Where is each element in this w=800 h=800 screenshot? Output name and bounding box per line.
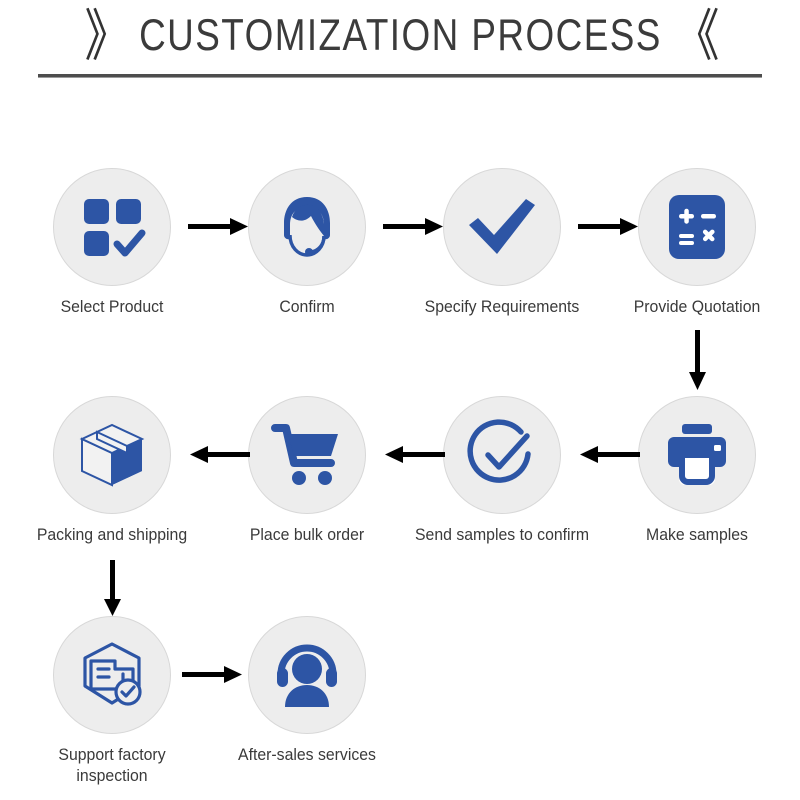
step-icon-circle: [443, 168, 561, 286]
connector-arrow-right: [182, 663, 244, 687]
step-label: Send samples to confirm: [414, 524, 591, 545]
flow-step-send-samples-to-confirm[interactable]: Send samples to confirm: [407, 396, 597, 545]
circle-check-icon: [465, 418, 539, 492]
connector-arrow-left: [383, 443, 445, 467]
flow-step-confirm[interactable]: Confirm: [212, 168, 402, 317]
step-icon-circle: [53, 396, 171, 514]
page-header: 》CUSTOMIZATION PROCESS《: [0, 0, 800, 90]
step-label: Specify Requirements: [414, 296, 591, 317]
printer-icon: [662, 421, 732, 489]
calculator-icon: [665, 192, 729, 262]
flow-step-place-bulk-order[interactable]: Place bulk order: [212, 396, 402, 545]
flow-step-packing-and-shipping[interactable]: Packing and shipping: [17, 396, 207, 545]
step-label: Place bulk order: [219, 524, 396, 545]
operator-headset-icon: [271, 191, 343, 263]
flow-step-provide-quotation[interactable]: Provide Quotation: [602, 168, 792, 317]
connector-arrow-left: [578, 443, 640, 467]
flow-step-after-sales-services[interactable]: After-sales services: [212, 616, 402, 765]
step-icon-circle: [248, 396, 366, 514]
step-label: After-sales services: [219, 744, 396, 765]
checkmark-icon: [464, 191, 540, 263]
step-label: Packing and shipping: [24, 524, 201, 545]
chevron-double-right-icon: 》: [85, 2, 127, 70]
chevron-double-left-icon: 《: [673, 2, 715, 70]
headphones-support-icon: [271, 641, 343, 709]
step-icon-circle: [248, 616, 366, 734]
step-icon-circle: [638, 396, 756, 514]
step-label: Provide Quotation: [609, 296, 786, 317]
step-label: Select Product: [24, 296, 201, 317]
step-icon-circle: [443, 396, 561, 514]
package-box-icon: [76, 419, 148, 491]
connector-arrow-right: [578, 215, 640, 239]
factory-inspection-shield-icon: [75, 639, 149, 711]
title-divider: [38, 74, 762, 78]
shopping-cart-icon: [270, 420, 344, 490]
step-icon-circle: [53, 616, 171, 734]
connector-arrow-right: [188, 215, 250, 239]
flow-step-support-factory-inspection[interactable]: Support factory inspection: [17, 616, 207, 786]
page-title-text: CUSTOMIZATION PROCESS: [135, 3, 666, 69]
grid-check-icon: [77, 192, 147, 262]
connector-arrow-down: [101, 560, 125, 618]
step-icon-circle: [53, 168, 171, 286]
flow-step-select-product[interactable]: Select Product: [17, 168, 207, 317]
step-label: Confirm: [219, 296, 396, 317]
page-title: 》CUSTOMIZATION PROCESS《: [0, 8, 800, 64]
connector-arrow-left: [188, 443, 250, 467]
connector-arrow-down: [686, 330, 710, 392]
step-icon-circle: [638, 168, 756, 286]
connector-arrow-right: [383, 215, 445, 239]
step-label: Make samples: [609, 524, 786, 545]
flow-step-specify-requirements[interactable]: Specify Requirements: [407, 168, 597, 317]
flow-step-make-samples[interactable]: Make samples: [602, 396, 792, 545]
step-label: Support factory inspection: [24, 744, 201, 786]
step-icon-circle: [248, 168, 366, 286]
